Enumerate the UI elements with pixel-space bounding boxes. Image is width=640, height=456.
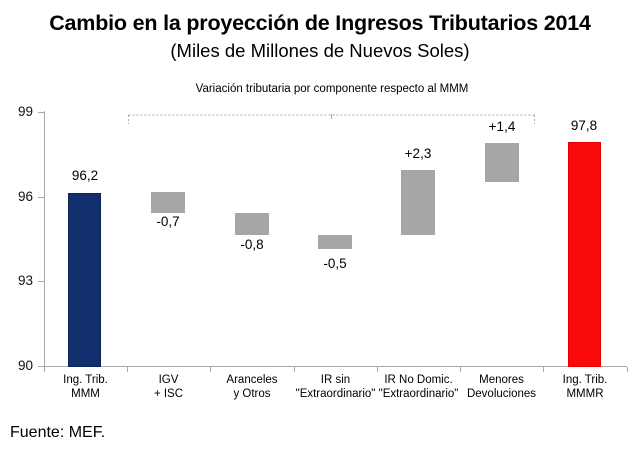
x-category-ir-sin-extraordinario: IR sin "Extraordinario" — [294, 373, 377, 401]
value-label-igv-isc: -0,7 — [137, 214, 199, 229]
value-label-ir-no-domic-extraordinario: +2,3 — [387, 146, 449, 161]
x-category-line-1: Ing. Trib. — [543, 373, 627, 387]
value-label-menores-devoluciones: +1,4 — [471, 119, 533, 134]
y-label-99: 99 — [0, 104, 33, 119]
x-tick-4 — [377, 367, 378, 372]
annotation-label: Variación tributaria por componente resp… — [128, 83, 536, 95]
y-tick-96 — [38, 197, 44, 198]
x-category-line-2: MMM — [44, 387, 127, 401]
bar-igv-isc[interactable] — [151, 192, 185, 213]
y-axis-line — [44, 111, 45, 367]
bar-ir-no-domic-extraordinario[interactable] — [401, 170, 435, 235]
value-label-ir-sin-extraordinario: -0,5 — [304, 256, 366, 271]
x-category-aranceles-y-otros: Aranceles y Otros — [210, 373, 294, 401]
x-tick-5 — [460, 367, 461, 372]
x-category-ing-trib-mmm: Ing. Trib. MMM — [44, 373, 127, 401]
value-label-aranceles-y-otros: -0,8 — [221, 237, 283, 252]
x-tick-1 — [127, 367, 128, 372]
bar-aranceles-y-otros[interactable] — [235, 213, 269, 235]
x-category-ir-no-domic-extraordinario: IR No Domic. "Extraordinario" — [377, 373, 460, 401]
y-label-90: 90 — [0, 358, 33, 373]
value-label-ing-trib-mmm: 96,2 — [54, 168, 116, 183]
x-category-line-2: + ISC — [127, 387, 210, 401]
x-category-line-2: "Extraordinario" — [294, 387, 377, 401]
bar-ing-trib-mmm[interactable] — [68, 193, 101, 367]
x-tick-0 — [44, 367, 45, 372]
y-label-96: 96 — [0, 189, 33, 204]
x-tick-3 — [294, 367, 295, 372]
value-label-ing-trib-mmmr: 97,8 — [553, 118, 615, 133]
x-tick-2 — [210, 367, 211, 372]
x-category-line-2: MMMR — [543, 387, 627, 401]
bar-ir-sin-extraordinario[interactable] — [318, 235, 352, 249]
x-category-line-1: Ing. Trib. — [44, 373, 127, 387]
x-tick-6 — [543, 367, 544, 372]
x-category-line-1: IR sin — [294, 373, 377, 387]
x-category-line-1: Menores — [460, 373, 543, 387]
x-category-line-1: Aranceles — [210, 373, 294, 387]
y-label-93: 93 — [0, 273, 33, 288]
chart-canvas: Cambio en la proyección de Ingresos Trib… — [0, 0, 640, 456]
x-category-menores-devoluciones: Menores Devoluciones — [460, 373, 543, 401]
y-tick-93 — [38, 281, 44, 282]
chart-subtitle: (Miles de Millones de Nuevos Soles) — [0, 40, 640, 62]
x-tick-7 — [627, 367, 628, 372]
x-axis-line — [44, 366, 627, 367]
x-category-line-2: Devoluciones — [460, 387, 543, 401]
x-category-igv-isc: IGV + ISC — [127, 373, 210, 401]
x-category-line-1: IR No Domic. — [377, 373, 460, 387]
x-category-ing-trib-mmmr: Ing. Trib. MMMR — [543, 373, 627, 401]
bar-ing-trib-mmmr[interactable] — [568, 142, 601, 367]
x-category-line-2: "Extraordinario" — [377, 387, 460, 401]
chart-title: Cambio en la proyección de Ingresos Trib… — [0, 11, 640, 36]
y-tick-99 — [38, 112, 44, 113]
x-category-line-2: y Otros — [210, 387, 294, 401]
x-category-line-1: IGV — [127, 373, 210, 387]
source-note: Fuente: MEF. — [10, 424, 105, 442]
bar-menores-devoluciones[interactable] — [485, 143, 519, 182]
